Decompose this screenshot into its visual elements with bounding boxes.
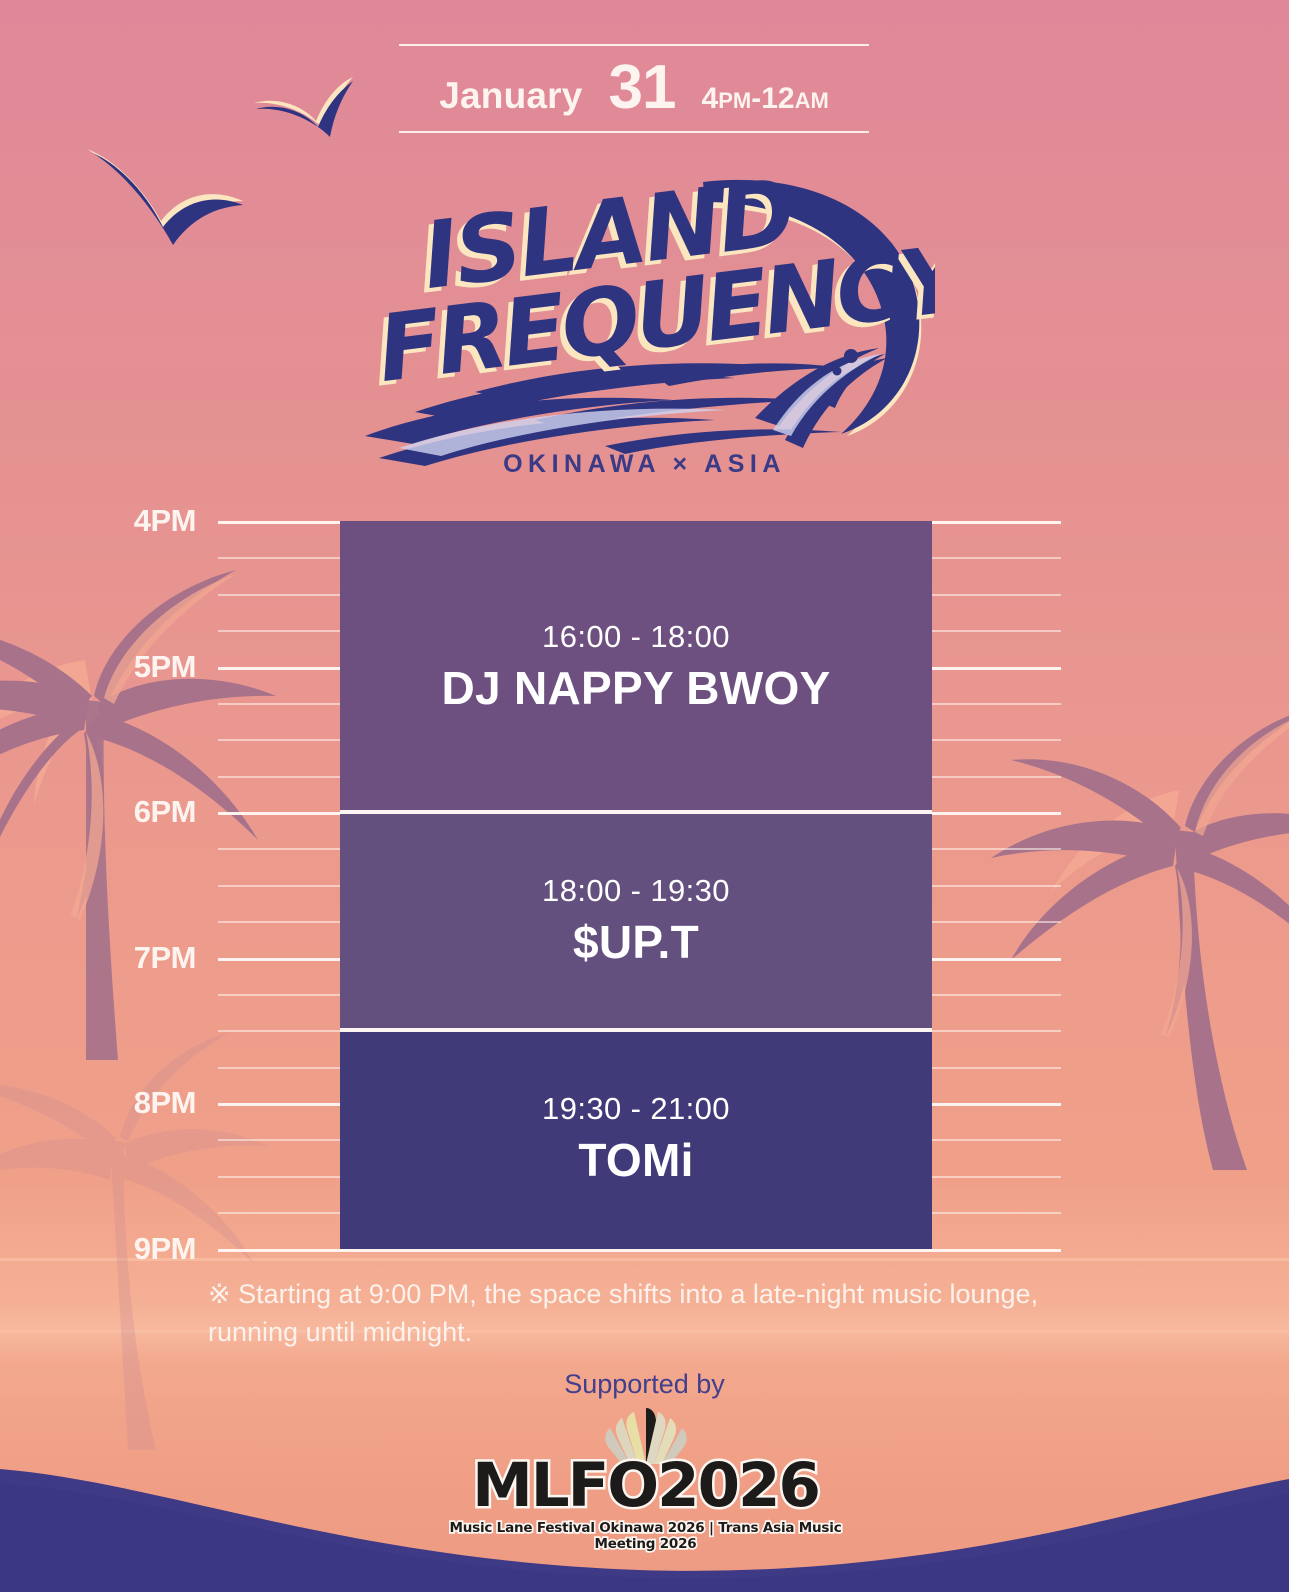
- seagull-bird-small-icon: [252, 73, 355, 137]
- event-time-range: 4PM-12AM: [702, 82, 829, 116]
- time-start-suffix: PM: [718, 88, 751, 113]
- sponsor-subtitle: Music Lane Festival Okinawa 2026 | Trans…: [418, 1520, 873, 1552]
- palm-tree-right-icon: [989, 670, 1289, 1170]
- time-end: 12: [761, 82, 794, 115]
- mlfo-2026-sponsor-logo[interactable]: MLFO2026 Music Lane Festival Okinawa 202…: [418, 1424, 873, 1564]
- palm-tree-left-icon: [0, 500, 300, 1060]
- event-date-header: January 31 4PM-12AM: [399, 44, 869, 133]
- time-dash: -: [751, 82, 761, 115]
- poster: January 31 4PM-12AM: [0, 0, 1289, 1592]
- seagull-bird-large-icon: [83, 143, 248, 248]
- event-month: January: [439, 75, 582, 117]
- late-night-lounge-note: ※ Starting at 9:00 PM, the space shifts …: [208, 1275, 1088, 1352]
- logo-subtitle: OKINAWA × ASIA: [0, 450, 1289, 479]
- time-end-suffix: AM: [795, 88, 829, 113]
- sponsor-title: MLFO2026: [418, 1450, 873, 1521]
- supported-by-label: Supported by: [0, 1369, 1289, 1400]
- island-frequency-logo: ISLAND ISLAND FREQUENCY FREQUENCY: [355, 168, 935, 493]
- event-day: 31: [609, 62, 676, 115]
- island-frequency-logo-artwork: ISLAND ISLAND FREQUENCY FREQUENCY: [355, 168, 935, 493]
- time-start: 4: [702, 82, 719, 115]
